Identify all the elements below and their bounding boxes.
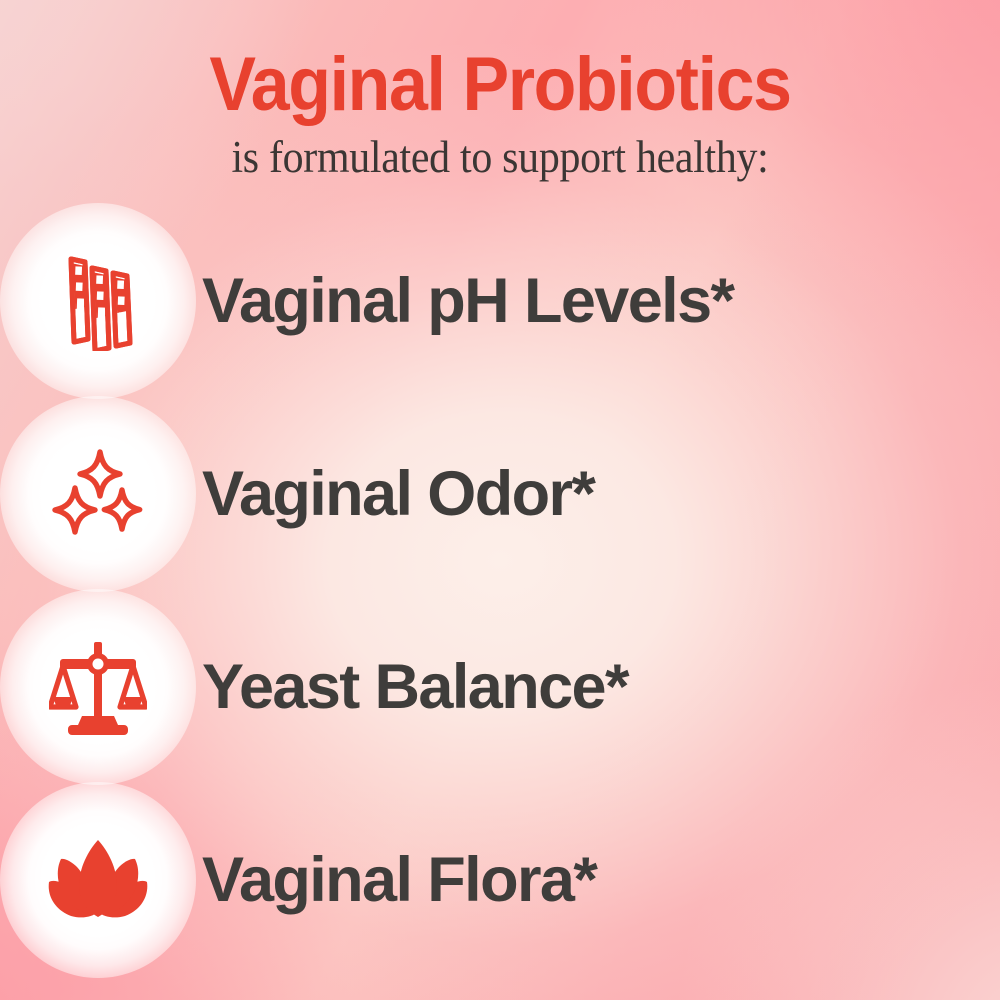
page-title: Vaginal Probiotics bbox=[40, 44, 960, 126]
poster-content: Vaginal Probiotics is formulated to supp… bbox=[0, 0, 1000, 1000]
benefit-label: Vaginal Odor* bbox=[202, 460, 594, 528]
heading-block: Vaginal Probiotics is formulated to supp… bbox=[0, 44, 1000, 182]
benefit-icon-container bbox=[0, 783, 196, 976]
benefit-icon-container bbox=[0, 590, 196, 783]
sparkles-icon bbox=[50, 448, 146, 540]
promo-poster: Vaginal Probiotics is formulated to supp… bbox=[0, 0, 1000, 1000]
benefit-label: Yeast Balance* bbox=[202, 653, 628, 721]
benefit-label: Vaginal Flora* bbox=[202, 846, 596, 914]
ph-test-strips-icon bbox=[52, 251, 144, 351]
benefit-icon-container bbox=[0, 204, 196, 397]
lotus-flower-icon bbox=[46, 838, 150, 922]
balance-scale-icon bbox=[49, 639, 147, 735]
benefit-label: Vaginal pH Levels* bbox=[202, 267, 733, 335]
list-item: Vaginal pH Levels* bbox=[0, 204, 1000, 397]
benefit-icon-container bbox=[0, 397, 196, 590]
list-item: Yeast Balance* bbox=[0, 590, 1000, 783]
list-item: Vaginal Flora* bbox=[0, 783, 1000, 976]
list-item: Vaginal Odor* bbox=[0, 397, 1000, 590]
page-subtitle: is formulated to support healthy: bbox=[35, 132, 965, 182]
benefits-list: Vaginal pH Levels* bbox=[0, 204, 1000, 976]
